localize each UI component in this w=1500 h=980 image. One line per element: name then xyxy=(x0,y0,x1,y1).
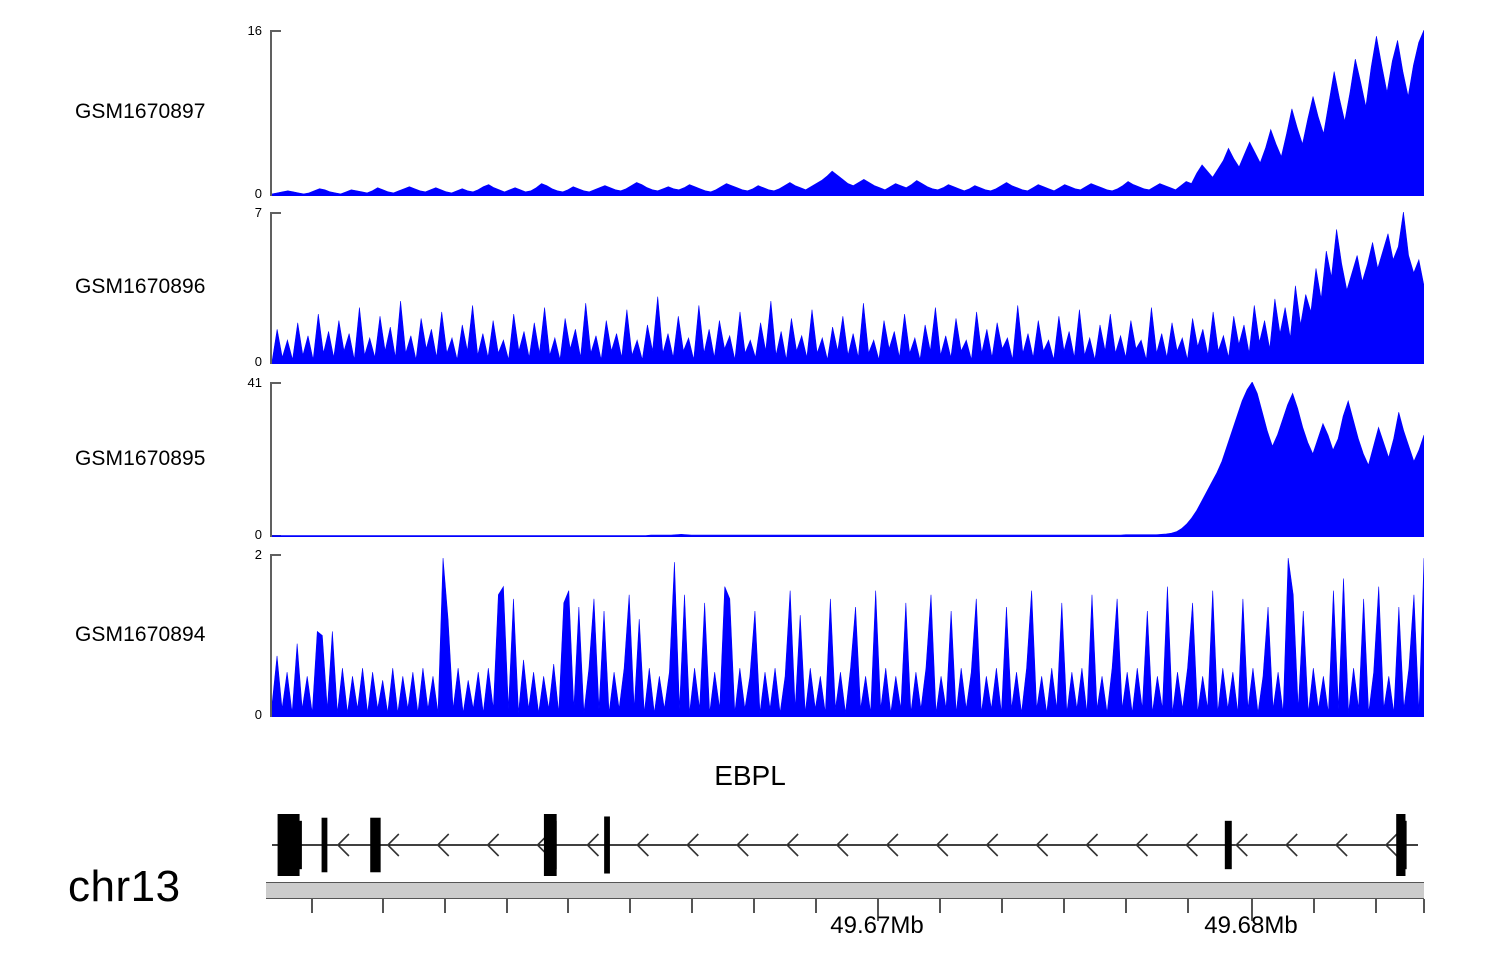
exon-5 xyxy=(604,816,610,873)
exon-1b xyxy=(285,821,302,869)
gene-annotation-panel: EBPL xyxy=(0,760,1500,890)
axis-tick-mark xyxy=(1187,899,1189,913)
genome-axis-labels: 49.67Mb49.68Mb49.69Mb xyxy=(0,912,1500,952)
coverage-plot-GSM1670896[interactable] xyxy=(272,212,1424,364)
axis-tick-mark xyxy=(1001,899,1003,913)
genome-axis-ticks xyxy=(266,899,1424,913)
track-label-GSM1670897: GSM1670897 xyxy=(75,100,206,124)
y-axis-min-label-GSM1670897: 0 xyxy=(222,187,262,200)
axis-tick-mark xyxy=(1375,899,1377,913)
axis-position-label: 49.67Mb xyxy=(830,912,923,940)
axis-tick-mark xyxy=(1423,899,1425,913)
y-axis-max-label-GSM1670896: 7 xyxy=(222,206,262,219)
chromosome-label: chr13 xyxy=(68,862,181,912)
axis-tick-mark xyxy=(753,899,755,913)
axis-tick-mark xyxy=(506,899,508,913)
axis-tick-mark xyxy=(691,899,693,913)
gene-name-label: EBPL xyxy=(0,760,1500,792)
coverage-plot-GSM1670894[interactable] xyxy=(272,554,1424,717)
axis-tick-mark xyxy=(311,899,313,913)
track-label-GSM1670895: GSM1670895 xyxy=(75,447,206,471)
y-axis-max-label-GSM1670897: 16 xyxy=(222,24,262,37)
coverage-track-GSM1670895: GSM1670895410 xyxy=(0,382,1500,537)
axis-tick-mark xyxy=(567,899,569,913)
coverage-track-GSM1670897: GSM1670897160 xyxy=(0,30,1500,196)
exon-6 xyxy=(1225,821,1232,869)
coverage-plot-GSM1670895[interactable] xyxy=(272,382,1424,537)
axis-tick-mark xyxy=(1313,899,1315,913)
axis-tick-mark xyxy=(1125,899,1127,913)
exon-7b xyxy=(1401,821,1407,869)
y-axis-max-label-GSM1670895: 41 xyxy=(222,376,262,389)
gene-model-graphic[interactable] xyxy=(266,810,1424,880)
track-label-GSM1670894: GSM1670894 xyxy=(75,623,206,647)
track-label-GSM1670896: GSM1670896 xyxy=(75,275,206,299)
gene-model-svg xyxy=(266,810,1424,880)
y-axis-max-label-GSM1670894: 2 xyxy=(222,548,262,561)
axis-tick-mark xyxy=(1063,899,1065,913)
axis-tick-mark xyxy=(939,899,941,913)
y-axis-min-label-GSM1670895: 0 xyxy=(222,528,262,541)
y-axis-min-label-GSM1670894: 0 xyxy=(222,708,262,721)
exon-4b xyxy=(549,821,557,869)
genome-axis-bar[interactable] xyxy=(266,882,1424,899)
axis-position-label: 49.68Mb xyxy=(1204,912,1297,940)
y-axis-min-label-GSM1670896: 0 xyxy=(222,355,262,368)
genome-browser-view: GSM1670897160GSM167089670GSM1670895410GS… xyxy=(0,0,1500,980)
axis-tick-mark xyxy=(444,899,446,913)
coverage-track-GSM1670894: GSM167089420 xyxy=(0,554,1500,717)
exon-3 xyxy=(370,818,380,873)
axis-tick-mark xyxy=(382,899,384,913)
axis-tick-mark xyxy=(629,899,631,913)
coverage-track-GSM1670896: GSM167089670 xyxy=(0,212,1500,364)
exon-2 xyxy=(322,818,328,873)
axis-tick-mark xyxy=(815,899,817,913)
coverage-plot-GSM1670897[interactable] xyxy=(272,30,1424,196)
